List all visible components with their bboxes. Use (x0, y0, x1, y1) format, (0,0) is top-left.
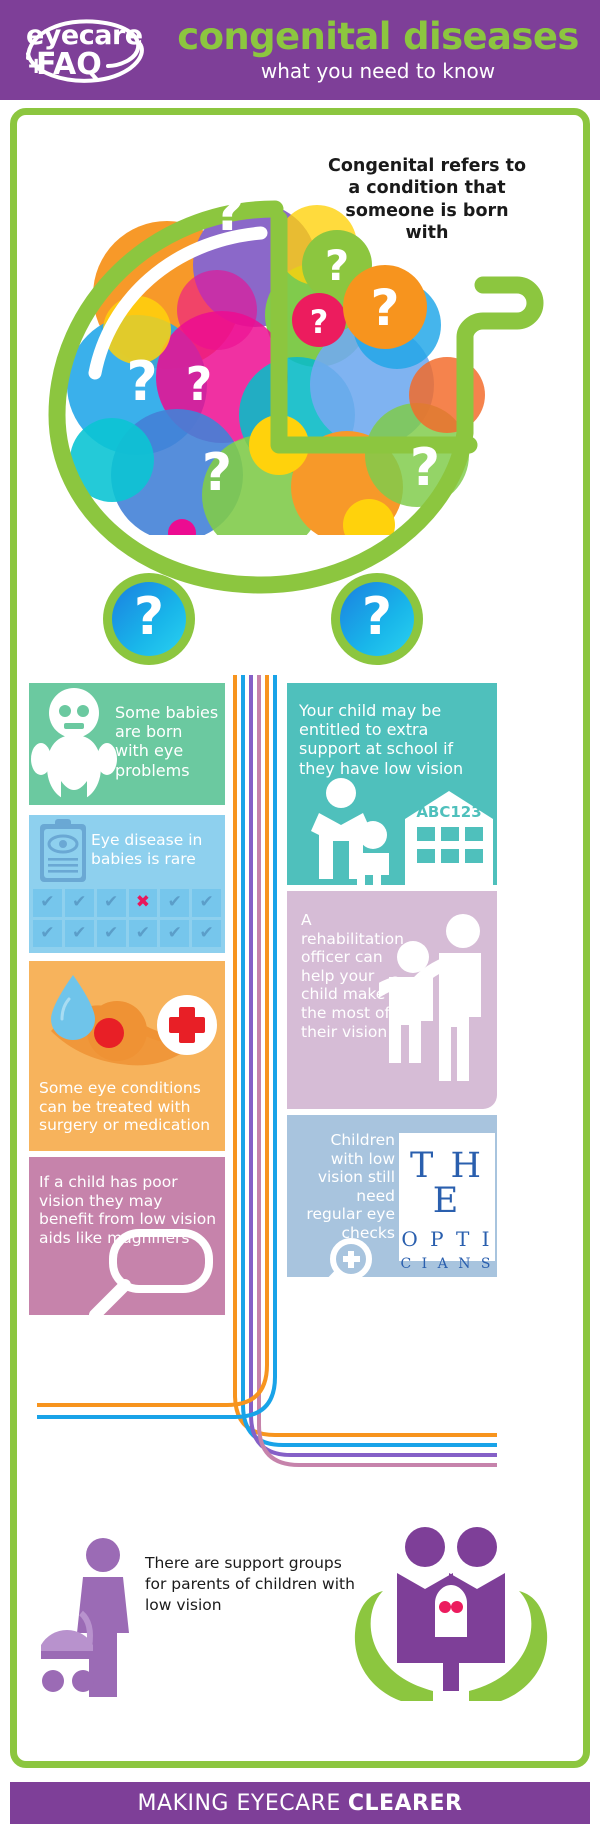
support-groups-section: There are support groups for parents of … (17, 1495, 583, 1725)
parent-pram-icon (31, 1533, 151, 1723)
opticians-line-1: T H E (399, 1149, 495, 1219)
bubble-inner: ? (112, 582, 186, 656)
question-bubble-right: ? (331, 573, 423, 665)
check-icon: ✔ (129, 920, 158, 948)
check-icon: ✔ (192, 889, 221, 917)
cross-icon: ✖ (129, 889, 158, 917)
baby-icon (31, 683, 117, 805)
hands-holding-family-icon (347, 1515, 557, 1715)
eye-drop-cross-icon (29, 961, 225, 1081)
panel-check-grid: ✔ ✔ ✔ ✖ ✔ ✔ ✔ ✔ ✔ ✔ ✔ ✔ (29, 885, 225, 953)
panel-treat-text: Some eye conditions can be treated with … (39, 1079, 219, 1135)
panel-checks-text: Children with low vision still need regu… (297, 1131, 395, 1243)
panel-treatable-conditions: Some eye conditions can be treated with … (29, 961, 225, 1151)
check-icon: ✔ (160, 889, 189, 917)
check-icon: ✔ (65, 889, 94, 917)
footer-text-bold: CLEARER (348, 1791, 463, 1816)
opticians-line-3: C I A N S (399, 1257, 495, 1271)
magnifier-icon (29, 1157, 225, 1315)
clipboard-eye-icon (35, 818, 91, 884)
bubble-inner: ? (340, 582, 414, 656)
panel-regular-eye-checks: Children with low vision still need regu… (287, 1115, 497, 1277)
opticians-line-2: O P T I (399, 1229, 495, 1249)
panel-rare-text: Eye disease in babies is rare (91, 831, 221, 868)
panel-school-text: Your child may be entitled to extra supp… (299, 701, 489, 778)
check-icon: ✔ (97, 920, 126, 948)
footer-text-light: MAKING EYECARE (138, 1791, 341, 1816)
question-bubble-left: ? (103, 573, 195, 665)
question-mark-icon: ? (362, 591, 392, 643)
page-footer: MAKING EYECARE CLEARER (10, 1782, 590, 1824)
parent-child-school-icon: ABC123 (287, 775, 497, 885)
page-header: eyecare + FAQ congenital diseases what y… (0, 0, 600, 100)
panel-babies-eye-problems: Some babies are born with eye problems (29, 683, 225, 805)
check-icon: ✔ (33, 889, 62, 917)
check-icon: ✔ (192, 920, 221, 948)
check-icon: ✔ (97, 889, 126, 917)
content-frame: ? ? ? ? ? ? ? ? Congenital refers to a c… (10, 108, 590, 1768)
eyecare-faq-logo: eyecare + FAQ (22, 14, 150, 86)
panel-eye-disease-rare: Eye disease in babies is rare (29, 815, 225, 885)
check-icon: ✔ (65, 920, 94, 948)
check-icon: ✔ (160, 920, 189, 948)
panel-school-support: Your child may be entitled to extra supp… (287, 683, 497, 885)
panel-babies-text: Some babies are born with eye problems (115, 703, 220, 780)
support-groups-text: There are support groups for parents of … (145, 1553, 355, 1616)
officer-guiding-child-icon (379, 913, 497, 1103)
logo-word-faq: FAQ (36, 47, 102, 82)
opticians-sign: T H E O P T I C I A N S (399, 1133, 495, 1261)
magnifier-plus-icon (309, 1237, 389, 1277)
question-mark-icon: ? (134, 591, 164, 643)
page-title: congenital diseases (164, 18, 592, 55)
school-sign-text: ABC123 (416, 803, 481, 821)
check-grid: ✔ ✔ ✔ ✖ ✔ ✔ ✔ ✔ ✔ ✔ ✔ ✔ (33, 889, 221, 947)
check-icon: ✔ (33, 920, 62, 948)
page-subtitle: what you need to know (164, 59, 592, 83)
panel-rehabilitation-officer: A rehabilitation officer can help your c… (287, 891, 497, 1109)
panel-low-vision-aids: If a child has poor vision they may bene… (29, 1157, 225, 1315)
header-title-block: congenital diseases what you need to kno… (164, 18, 600, 83)
